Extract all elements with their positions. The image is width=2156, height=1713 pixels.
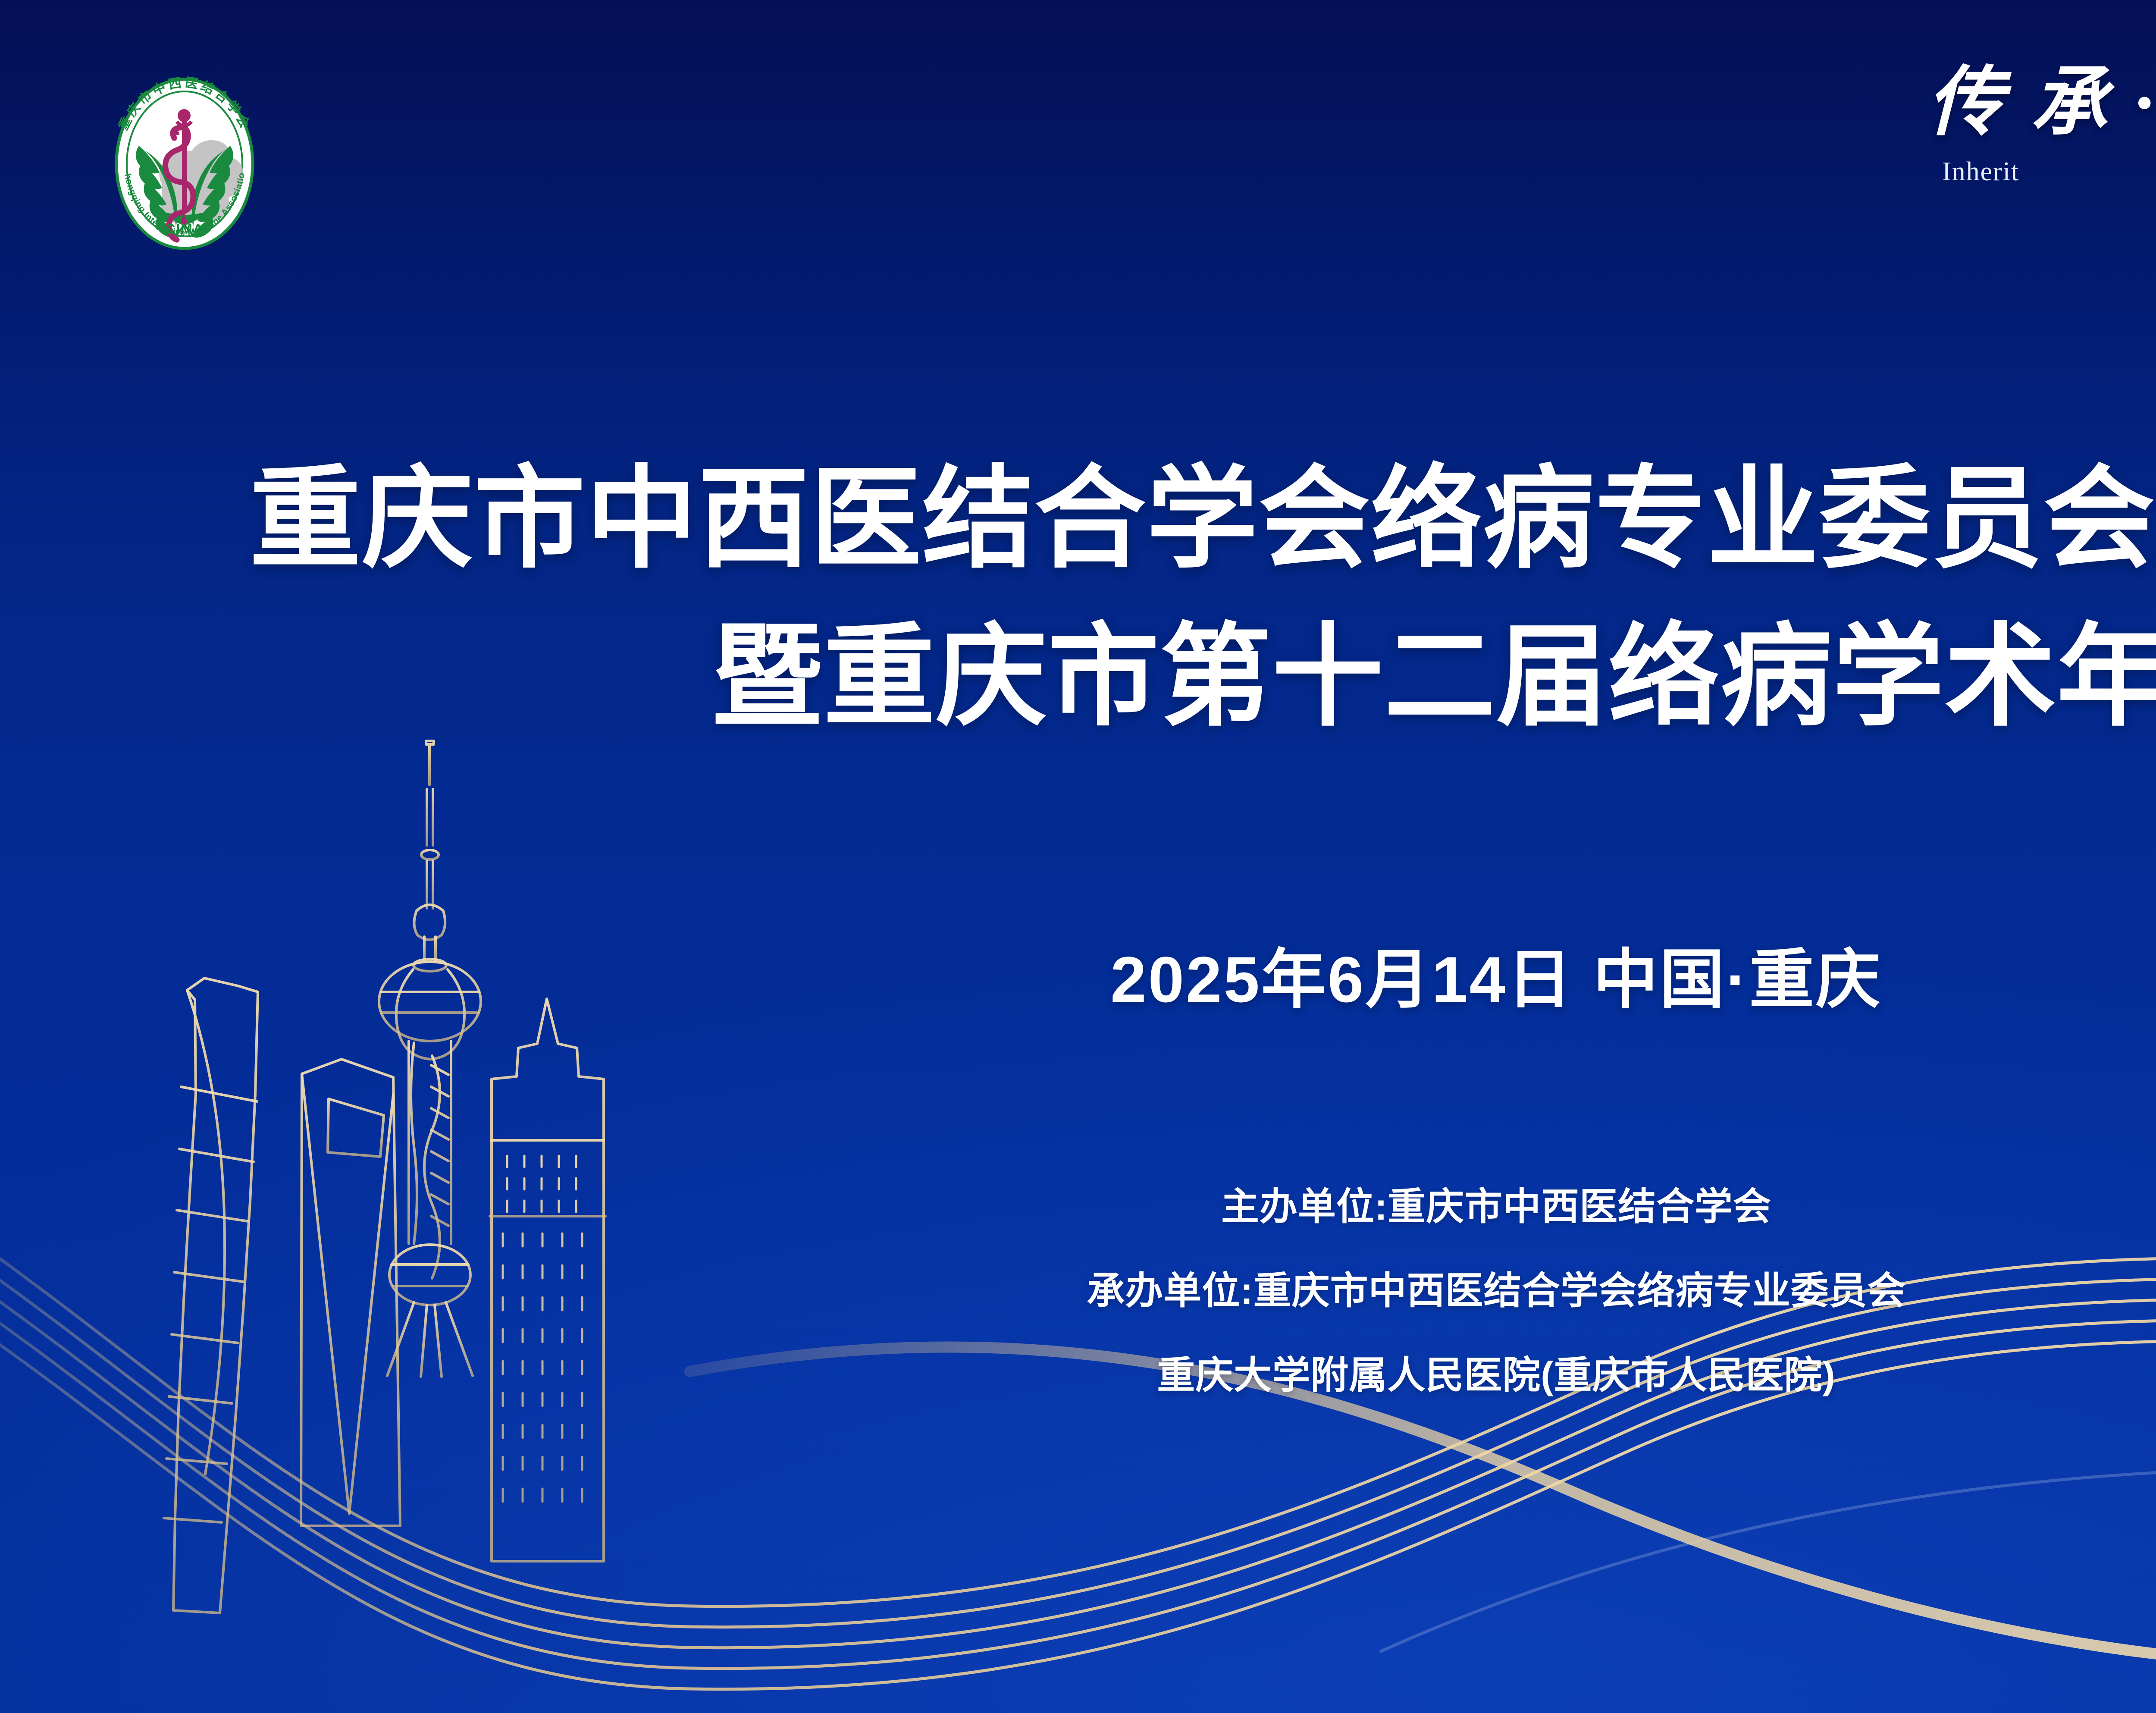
slogan-block: 传 承 · 创 新 · 开 放 · 融 合 Inherit Innovate O… <box>1927 60 2156 187</box>
logo-abbreviation: CIMA <box>165 221 204 237</box>
conference-banner: 重庆市中西医结合学会 Chongqing Integrative Medicin… <box>0 0 2156 1713</box>
cima-logo: 重庆市中西医结合学会 Chongqing Integrative Medicin… <box>94 73 275 254</box>
organizer-hospital: 重庆大学附属人民医院(重庆市人民医院) <box>0 1333 2156 1417</box>
conference-title: 重庆市中西医结合学会络病专业委员会2025年年会 暨重庆市第十二届络病学术年会 <box>0 440 2156 756</box>
date-location-line: 2025年6月14日 中国·重庆 <box>0 927 2156 1021</box>
organizer-host: 主办单位:重庆市中西医结合学会 <box>0 1164 2156 1249</box>
title-line-1: 重庆市中西医结合学会络病专业委员会2025年年会 <box>0 440 2156 598</box>
slogan-en-inherit: Inherit <box>1942 157 2019 187</box>
slogan-english-row: Inherit Innovate Open Merge <box>1927 145 2156 187</box>
background-decoration <box>0 0 2156 1713</box>
organizers-block: 主办单位:重庆市中西医结合学会 承办单位:重庆市中西医结合学会络病专业委员会 重… <box>0 1164 2156 1417</box>
title-line-2: 暨重庆市第十二届络病学术年会 <box>0 598 2156 756</box>
slogan-chinese: 传 承 · 创 新 · 开 放 · 融 合 <box>1927 60 2156 145</box>
faint-arc-line <box>1380 1467 2156 1652</box>
organizer-undertaker: 承办单位:重庆市中西医结合学会络病专业委员会 <box>0 1249 2156 1333</box>
